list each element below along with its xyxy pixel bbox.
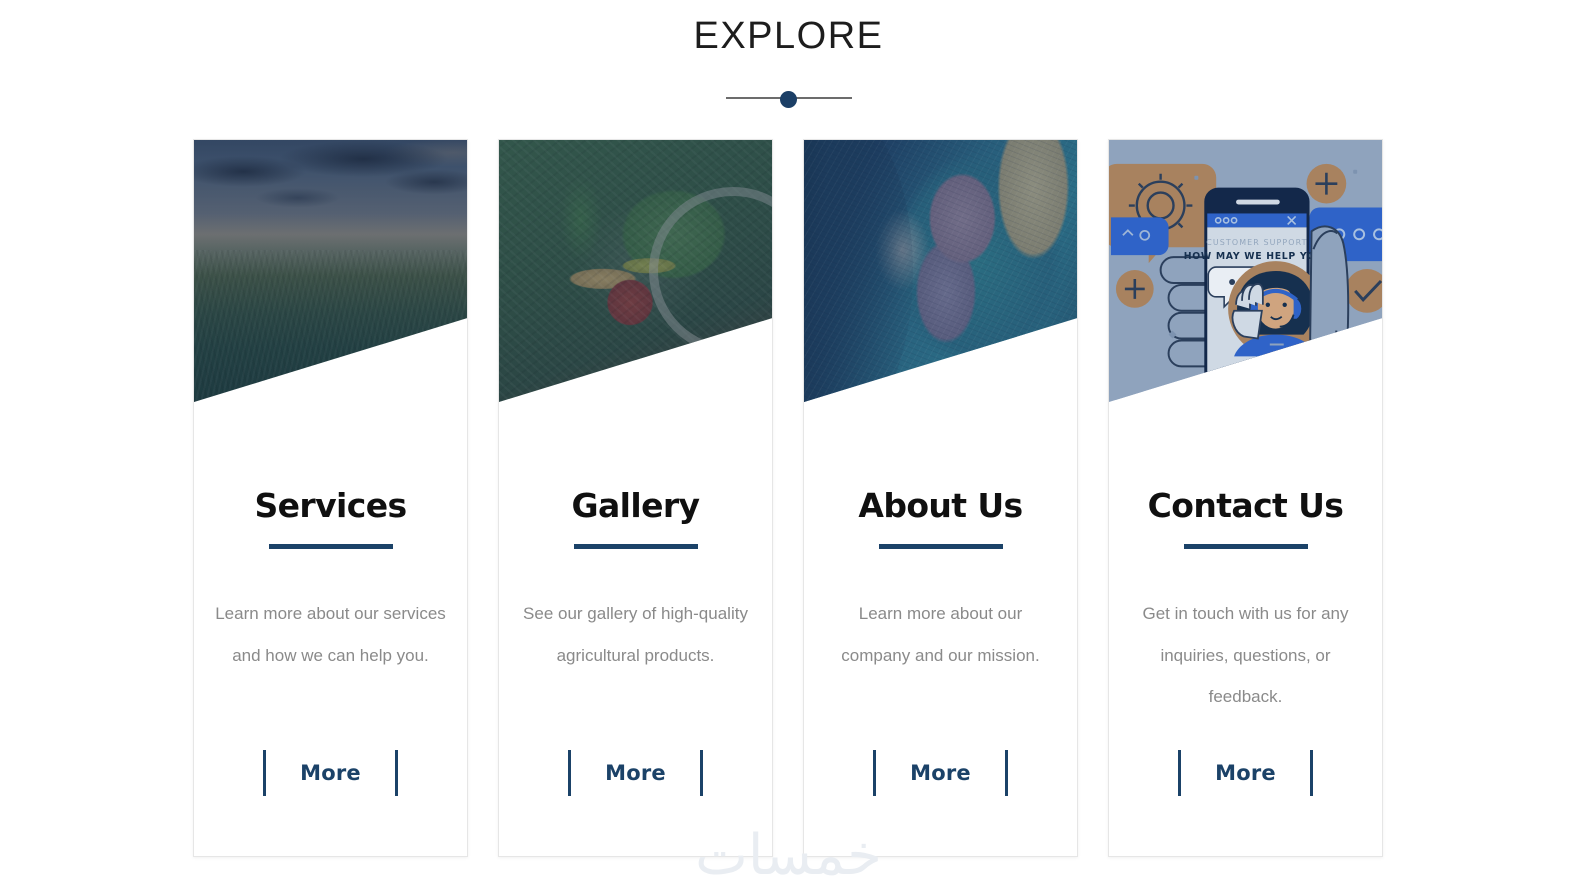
- more-right-bar-icon: [395, 750, 398, 796]
- card-body: Gallery See our gallery of high-quality …: [499, 402, 772, 856]
- section-header: EXPLORE: [0, 16, 1577, 58]
- card-description: Learn more about our services and how we…: [215, 593, 447, 676]
- card-media-about-us: [804, 140, 1077, 402]
- card-description: Learn more about our company and our mis…: [825, 593, 1057, 676]
- title-underline: [1184, 544, 1308, 549]
- photo-tint-overlay: [499, 140, 772, 402]
- card-contact-us[interactable]: CUSTOMER SUPPORT HOW MAY WE HELP YOU?: [1108, 139, 1383, 857]
- page-title: EXPLORE: [0, 16, 1577, 58]
- divider-dot-icon: [780, 91, 797, 108]
- more-left-bar-icon: [263, 750, 266, 796]
- card-title: Services: [254, 489, 406, 522]
- more-button[interactable]: More: [1178, 750, 1313, 796]
- card-title: Gallery: [572, 489, 700, 522]
- more-button-label: More: [1215, 761, 1276, 785]
- card-body: About Us Learn more about our company an…: [804, 402, 1077, 856]
- card-body: Services Learn more about our services a…: [194, 402, 467, 856]
- more-button-label: More: [910, 761, 971, 785]
- card-gallery[interactable]: Gallery See our gallery of high-quality …: [498, 139, 773, 857]
- card-media-gallery: [499, 140, 772, 402]
- card-grid: Services Learn more about our services a…: [193, 139, 1383, 857]
- card-media-contact-us: CUSTOMER SUPPORT HOW MAY WE HELP YOU?: [1109, 140, 1382, 402]
- card-description: Get in touch with us for any inquiries, …: [1130, 593, 1362, 718]
- card-title: About Us: [858, 489, 1022, 522]
- more-left-bar-icon: [1178, 750, 1181, 796]
- title-underline: [269, 544, 393, 549]
- title-underline: [574, 544, 698, 549]
- card-title: Contact Us: [1148, 489, 1344, 522]
- more-button[interactable]: More: [873, 750, 1008, 796]
- card-media-services: [194, 140, 467, 402]
- title-underline: [879, 544, 1003, 549]
- photo-tint-overlay: [194, 140, 467, 402]
- section-divider: [0, 86, 1577, 110]
- more-right-bar-icon: [1005, 750, 1008, 796]
- more-button-label: More: [300, 761, 361, 785]
- card-body: Contact Us Get in touch with us for any …: [1109, 402, 1382, 856]
- photo-tint-overlay: [1109, 140, 1382, 402]
- card-description: See our gallery of high-quality agricult…: [520, 593, 752, 676]
- more-left-bar-icon: [873, 750, 876, 796]
- photo-tint-overlay: [804, 140, 1077, 402]
- screen-text-lines: [1222, 366, 1291, 377]
- card-about-us[interactable]: About Us Learn more about our company an…: [803, 139, 1078, 857]
- card-services[interactable]: Services Learn more about our services a…: [193, 139, 468, 857]
- explore-section: EXPLORE Services Learn more about our se…: [0, 0, 1577, 896]
- more-right-bar-icon: [1310, 750, 1313, 796]
- more-left-bar-icon: [568, 750, 571, 796]
- more-button[interactable]: More: [263, 750, 398, 796]
- more-right-bar-icon: [700, 750, 703, 796]
- more-button[interactable]: More: [568, 750, 703, 796]
- more-button-label: More: [605, 761, 666, 785]
